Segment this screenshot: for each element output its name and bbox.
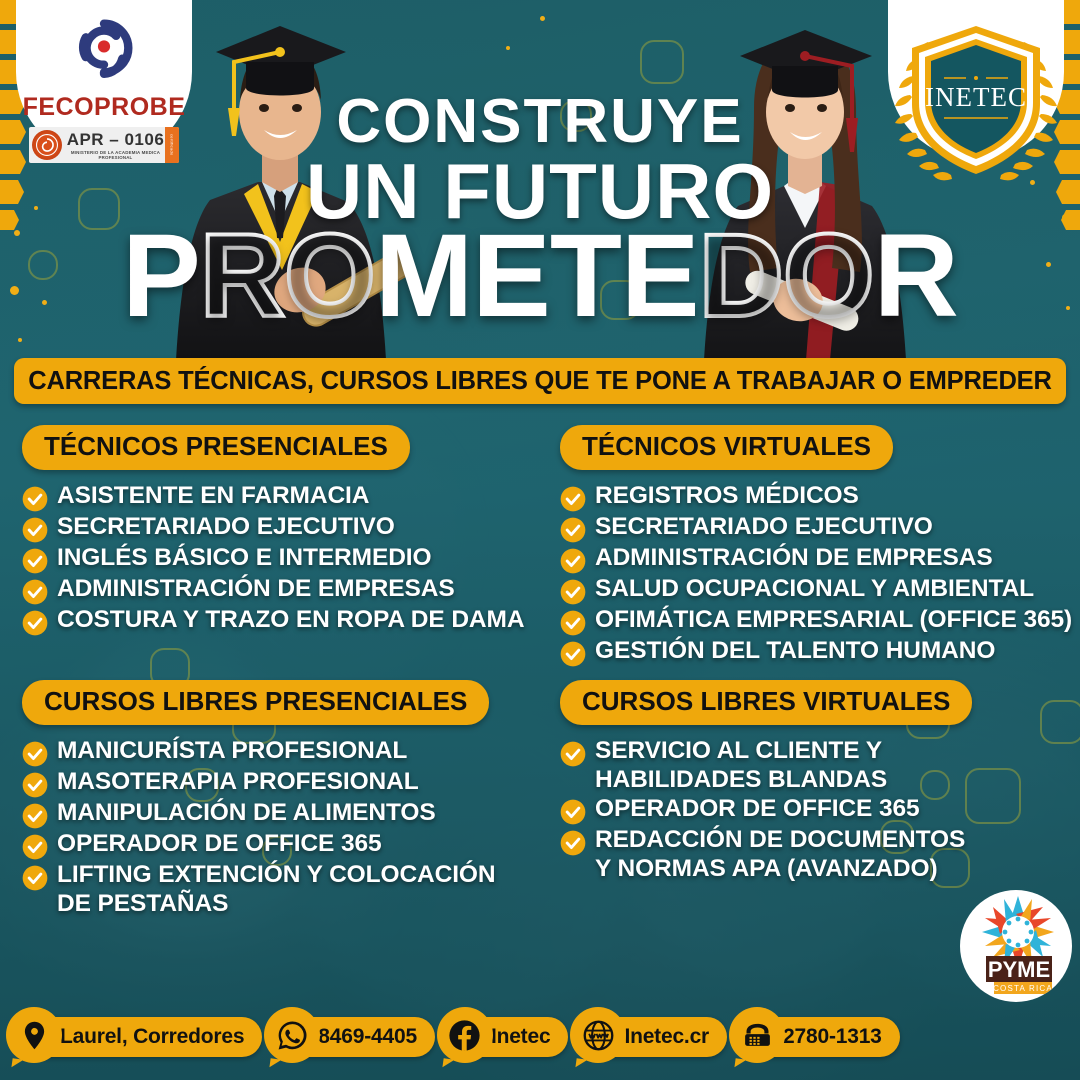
course-label: REDACCIÓN DE DOCUMENTOS: [595, 826, 965, 855]
course-label: LIFTING EXTENCIÓN Y COLOCACIÓN: [57, 861, 495, 890]
contact-facebook-label: Inetec: [491, 1025, 551, 1049]
check-badge-icon: [22, 803, 48, 829]
course-label: MANICURÍSTA PROFESIONAL: [57, 737, 407, 766]
check-badge-icon: [560, 517, 586, 543]
check-badge-icon: [22, 610, 48, 636]
contact-phone[interactable]: 2780-1313: [737, 1017, 900, 1057]
check-badge-icon: [560, 486, 586, 512]
list-item: OPERADOR DE OFFICE 365: [22, 830, 552, 860]
headline-line-1: CONSTRUYE: [0, 92, 1080, 152]
course-label: INGLÉS BÁSICO E INTERMEDIO: [57, 544, 431, 573]
check-badge-icon: [22, 834, 48, 860]
check-badge-icon: [22, 865, 48, 891]
course-label: MANIPULACIÓN DE ALIMENTOS: [57, 799, 436, 828]
headline-part-5: R: [874, 210, 958, 342]
course-label: SERVICIO AL CLIENTE Y: [595, 737, 887, 766]
list-item: SECRETARIADO EJECUTIVO: [560, 513, 1080, 543]
list-item: INGLÉS BÁSICO E INTERMEDIO: [22, 544, 552, 574]
location-pin-icon: [6, 1007, 62, 1063]
pyme-subtitle: COSTA RICA: [993, 984, 1053, 993]
section-title-pill: CURSOS LIBRES PRESENCIALES: [22, 680, 489, 725]
course-label: ASISTENTE EN FARMACIA: [57, 482, 369, 511]
check-badge-icon: [560, 830, 586, 856]
check-badge-icon: [22, 486, 48, 512]
list-item: MANIPULACIÓN DE ALIMENTOS: [22, 799, 552, 829]
list-item: GESTIÓN DEL TALENTO HUMANO: [560, 637, 1080, 667]
contact-location-label: Laurel, Corredores: [60, 1025, 244, 1049]
section-title-pill: CURSOS LIBRES VIRTUALES: [560, 680, 972, 725]
course-label: COSTURA Y TRAZO EN ROPA DE DAMA: [57, 606, 524, 635]
pyme-logo: PYME COSTA RICA: [960, 890, 1072, 1002]
check-badge-icon: [560, 641, 586, 667]
section-course-list: REGISTROS MÉDICOS SECRETARIADO EJECUTIVO…: [560, 482, 1080, 667]
course-label: SECRETARIADO EJECUTIVO: [595, 513, 933, 542]
course-label: MASOTERAPIA PROFESIONAL: [57, 768, 419, 797]
list-item: MANICURÍSTA PROFESIONAL: [22, 737, 552, 767]
course-label: SALUD OCUPACIONAL Y AMBIENTAL: [595, 575, 1034, 604]
telephone-icon: [729, 1007, 785, 1063]
contact-location[interactable]: Laurel, Corredores: [14, 1017, 262, 1057]
facebook-icon: [437, 1007, 493, 1063]
whatsapp-icon: [264, 1007, 320, 1063]
course-label: OFIMÁTICA EMPRESARIAL (OFFICE 365): [595, 606, 1072, 635]
section-title: CURSOS LIBRES VIRTUALES: [582, 686, 950, 716]
list-item: LIFTING EXTENCIÓN Y COLOCACIÓN DE PESTAÑ…: [22, 861, 552, 918]
list-item: ADMINISTRACIÓN DE EMPRESAS: [22, 575, 552, 605]
course-label: OPERADOR DE OFFICE 365: [595, 795, 920, 824]
contact-whatsapp[interactable]: 8469-4405: [272, 1017, 435, 1057]
pyme-starburst-icon: PYME COSTA RICA: [960, 890, 1072, 1002]
list-item: ADMINISTRACIÓN DE EMPRESAS: [560, 544, 1080, 574]
spiral-swirl-icon: [66, 10, 142, 86]
section-title-pill: TÉCNICOS VIRTUALES: [560, 425, 893, 470]
list-item: OFIMÁTICA EMPRESARIAL (OFFICE 365): [560, 606, 1080, 636]
check-badge-icon: [560, 799, 586, 825]
course-label: GESTIÓN DEL TALENTO HUMANO: [595, 637, 995, 666]
check-badge-icon: [22, 517, 48, 543]
globe-www-icon: [570, 1007, 626, 1063]
headline-part-4: DO: [699, 210, 874, 342]
section-tecnicos-presenciales: TÉCNICOS PRESENCIALES ASISTENTE EN FARMA…: [22, 425, 552, 637]
course-label: ADMINISTRACIÓN DE EMPRESAS: [57, 575, 455, 604]
contact-footer: Laurel, Corredores 8469-4405 Inetec: [0, 994, 1080, 1080]
contact-website[interactable]: Inetec.cr: [578, 1017, 727, 1057]
headline-part-2: RO: [200, 210, 375, 342]
list-item: REGISTROS MÉDICOS: [560, 482, 1080, 512]
tagline-text: CARRERAS TÉCNICAS, CURSOS LIBRES QUE TE …: [28, 367, 1051, 396]
section-course-list: SERVICIO AL CLIENTE Y HABILIDADES BLANDA…: [560, 737, 1080, 884]
list-item: SALUD OCUPACIONAL Y AMBIENTAL: [560, 575, 1080, 605]
course-label: OPERADOR DE OFFICE 365: [57, 830, 382, 859]
section-title: TÉCNICOS PRESENCIALES: [44, 431, 388, 461]
contact-phone-label: 2780-1313: [783, 1025, 882, 1049]
list-item: OPERADOR DE OFFICE 365: [560, 795, 1080, 825]
section-title-pill: TÉCNICOS PRESENCIALES: [22, 425, 410, 470]
section-cursos-libres-virtuales: CURSOS LIBRES VIRTUALES SERVICIO AL CLIE…: [560, 680, 1080, 885]
course-label: SECRETARIADO EJECUTIVO: [57, 513, 395, 542]
list-item: SERVICIO AL CLIENTE Y HABILIDADES BLANDA…: [560, 737, 1080, 794]
pyme-name: PYME: [988, 957, 1050, 982]
list-item: REDACCIÓN DE DOCUMENTOS Y NORMAS APA (AV…: [560, 826, 1080, 883]
course-label: ADMINISTRACIÓN DE EMPRESAS: [595, 544, 993, 573]
headline-block: CONSTRUYE UN FUTURO PROMETEDOR: [0, 92, 1080, 331]
headline-part-3: METE: [375, 210, 699, 342]
section-tecnicos-virtuales: TÉCNICOS VIRTUALES REGISTROS MÉDICOS SEC…: [560, 425, 1080, 668]
check-badge-icon: [22, 741, 48, 767]
check-badge-icon: [560, 579, 586, 605]
section-title: TÉCNICOS VIRTUALES: [582, 431, 871, 461]
list-item: SECRETARIADO EJECUTIVO: [22, 513, 552, 543]
list-item: COSTURA Y TRAZO EN ROPA DE DAMA: [22, 606, 552, 636]
check-badge-icon: [22, 772, 48, 798]
check-badge-icon: [560, 548, 586, 574]
contact-website-label: Inetec.cr: [624, 1025, 709, 1049]
section-course-list: MANICURÍSTA PROFESIONAL MASOTERAPIA PROF…: [22, 737, 552, 918]
section-course-list: ASISTENTE EN FARMACIA SECRETARIADO EJECU…: [22, 482, 552, 636]
check-badge-icon: [560, 741, 586, 767]
contact-facebook[interactable]: Inetec: [445, 1017, 569, 1057]
list-item: ASISTENTE EN FARMACIA: [22, 482, 552, 512]
section-title: CURSOS LIBRES PRESENCIALES: [44, 686, 467, 716]
course-label-continuation: DE PESTAÑAS: [57, 890, 495, 919]
poster-root: FECOPROBE APR – 0106 MINISTERIO DE LA AC…: [0, 0, 1080, 1080]
course-label-continuation: HABILIDADES BLANDAS: [595, 766, 887, 795]
section-cursos-libres-presenciales: CURSOS LIBRES PRESENCIALES MANICURÍSTA P…: [22, 680, 552, 919]
headline-line-3: PROMETEDOR: [0, 222, 1080, 331]
check-badge-icon: [22, 548, 48, 574]
course-label: REGISTROS MÉDICOS: [595, 482, 859, 511]
list-item: MASOTERAPIA PROFESIONAL: [22, 768, 552, 798]
check-badge-icon: [560, 610, 586, 636]
tagline-ribbon: CARRERAS TÉCNICAS, CURSOS LIBRES QUE TE …: [14, 358, 1066, 404]
headline-part-1: P: [122, 210, 200, 342]
contact-whatsapp-label: 8469-4405: [318, 1025, 417, 1049]
course-label-continuation: Y NORMAS APA (AVANZADO): [595, 855, 965, 884]
check-badge-icon: [22, 579, 48, 605]
